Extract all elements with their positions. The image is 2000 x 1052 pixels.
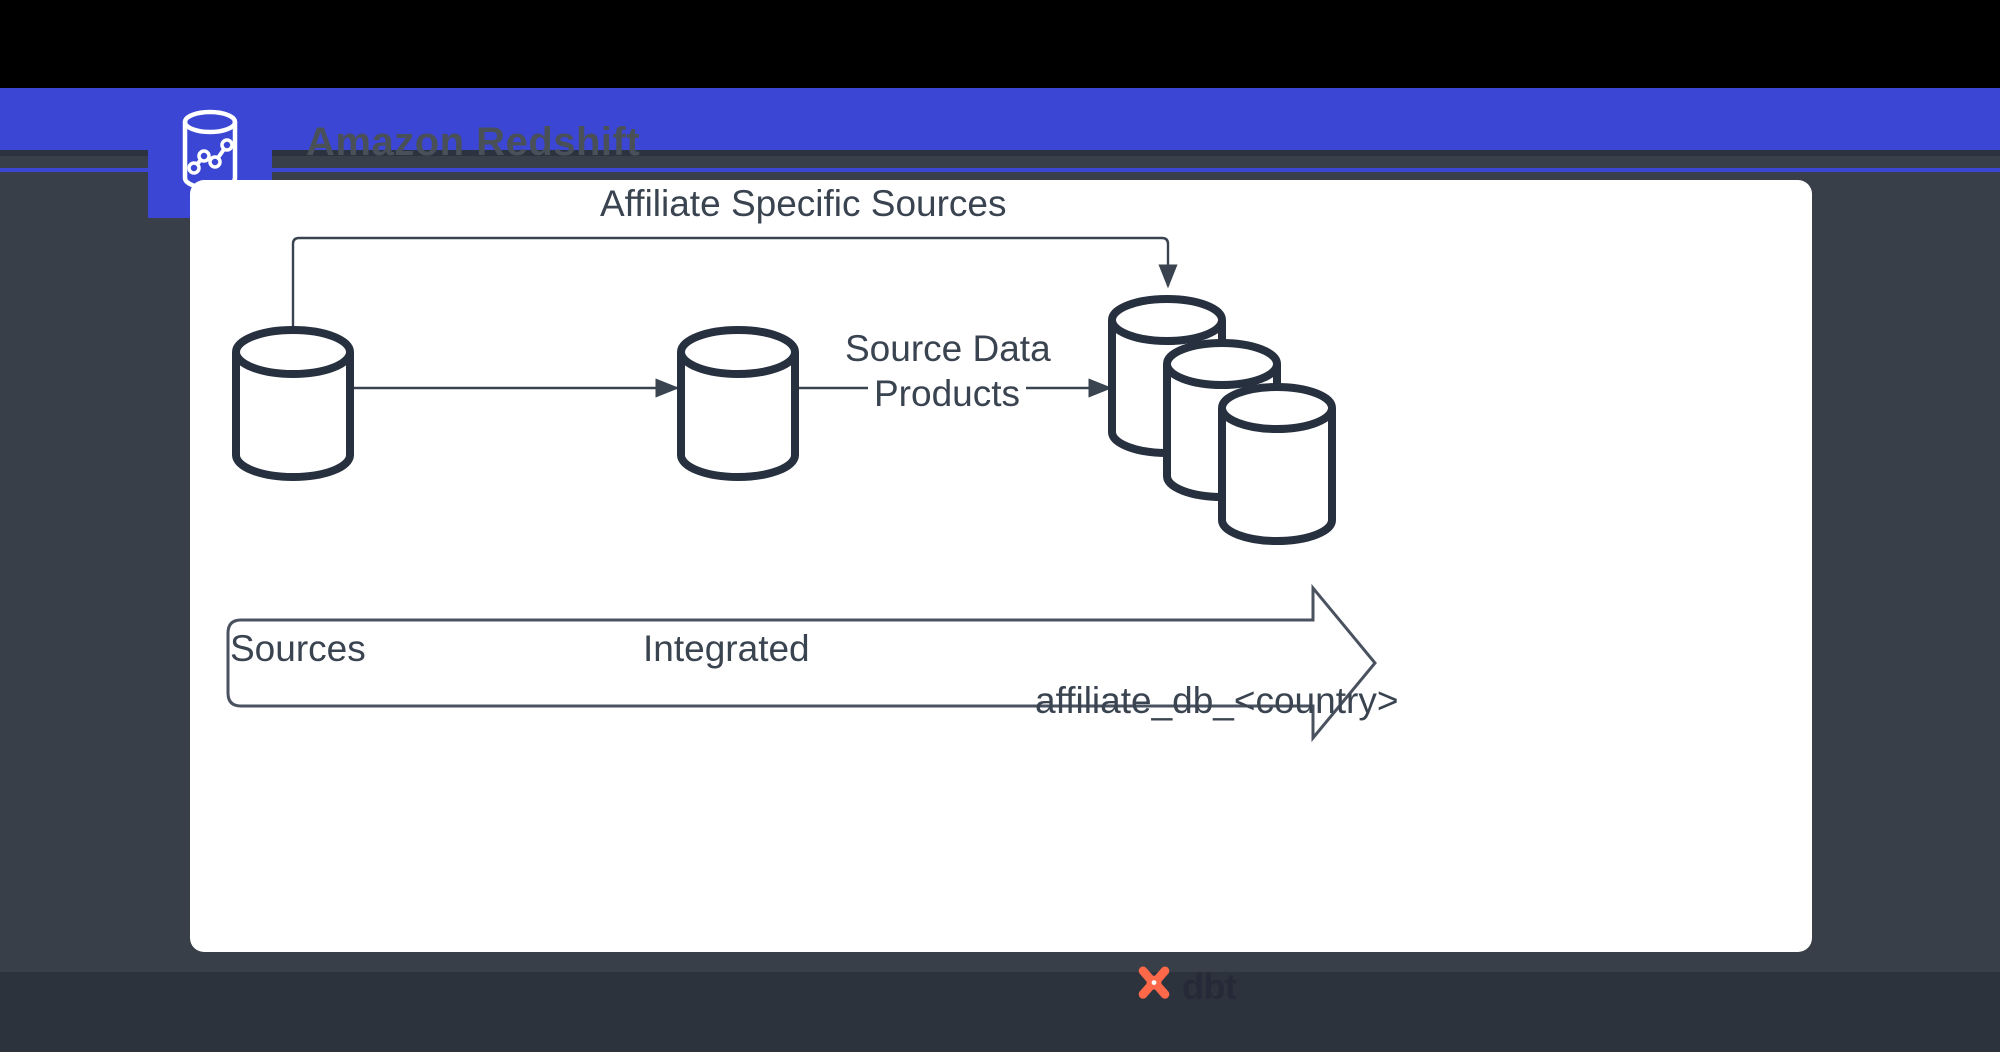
diagram-card: Sources Integrated affiliate_db_<country… <box>190 180 1812 952</box>
label-affiliate-db: affiliate_db_<country> <box>1035 680 1398 722</box>
node-integrated-cylinder <box>681 330 795 477</box>
edge-label-products: Products <box>868 373 1026 415</box>
edge-label-source-data: Source Data <box>839 328 1057 370</box>
affiliate-cylinder-front <box>1222 387 1332 541</box>
architecture-diagram <box>190 180 1812 952</box>
dbt-logo: dbt <box>1135 965 1236 1008</box>
edge-label-affiliate-specific-sources: Affiliate Specific Sources <box>594 183 1013 225</box>
label-integrated: Integrated <box>643 628 810 670</box>
letterbox-top <box>0 0 2000 88</box>
dbt-wordmark: dbt <box>1182 969 1236 1005</box>
label-sources: Sources <box>230 628 366 670</box>
letterbox-bottom <box>0 972 2000 1052</box>
band-divider-blue <box>0 168 2000 172</box>
band-divider-dark <box>0 150 2000 156</box>
screenshot-stage: Amazon Redshift <box>0 0 2000 1052</box>
dbt-x-icon <box>1135 965 1173 1008</box>
page-title: Amazon Redshift <box>306 120 640 165</box>
node-sources-cylinder <box>236 330 350 477</box>
edge-sources-affiliate <box>293 238 1168 328</box>
node-affiliate-db-stack <box>1112 299 1332 541</box>
